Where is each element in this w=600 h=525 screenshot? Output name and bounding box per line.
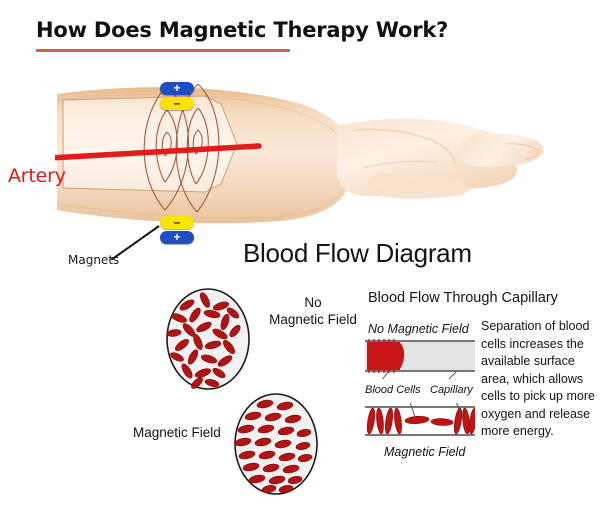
- minus-pole-icon: –: [160, 216, 194, 229]
- magnet-top: + –: [160, 82, 194, 110]
- illustration-canvas: How Does Magnetic Therapy Work?: [0, 0, 600, 525]
- plus-pole-icon: +: [160, 231, 194, 244]
- magnets-label: Magnets: [68, 253, 119, 267]
- plus-pole-symbol: +: [173, 82, 180, 94]
- minus-pole-icon: –: [160, 97, 194, 110]
- oval-no-magnetic-field: [165, 287, 251, 392]
- blood-flow-diagram-heading: Blood Flow Diagram: [243, 238, 472, 269]
- capillary-label: Capillary: [430, 384, 473, 396]
- capillary-magnetic-field-graphic: [365, 403, 475, 443]
- capillary-magnetic-field-label: Magnetic Field: [384, 445, 465, 459]
- artery-label: Artery: [8, 165, 66, 187]
- capillary-heading: Blood Flow Through Capillary: [368, 290, 558, 306]
- no-magnetic-field-label: No Magnetic Field: [267, 294, 359, 328]
- hand-shape: [337, 119, 544, 199]
- oval-magnetic-field: [233, 392, 319, 497]
- plus-pole-icon: +: [160, 82, 194, 95]
- page-title: How Does Magnetic Therapy Work?: [36, 18, 448, 42]
- arm-illustration: [55, 70, 545, 260]
- title-underline-rule: [36, 49, 290, 52]
- minus-pole-symbol: –: [174, 216, 181, 228]
- blood-cells-label: Blood Cells: [365, 384, 421, 396]
- minus-pole-symbol: –: [174, 97, 181, 109]
- no-magnetic-field-label-line2: Magnetic Field: [267, 311, 359, 328]
- magnet-bottom: – +: [160, 216, 194, 244]
- explanation-text: Separation of blood cells increases the …: [481, 318, 597, 441]
- capillary-no-field-graphic: [365, 337, 475, 379]
- no-magnetic-field-label-line1: No: [267, 294, 359, 311]
- plus-pole-symbol: +: [173, 231, 180, 243]
- cutaway-window: [63, 96, 237, 192]
- magnetic-field-label: Magnetic Field: [133, 425, 221, 440]
- capillary-no-field-label: No Magnetic Field: [368, 322, 469, 336]
